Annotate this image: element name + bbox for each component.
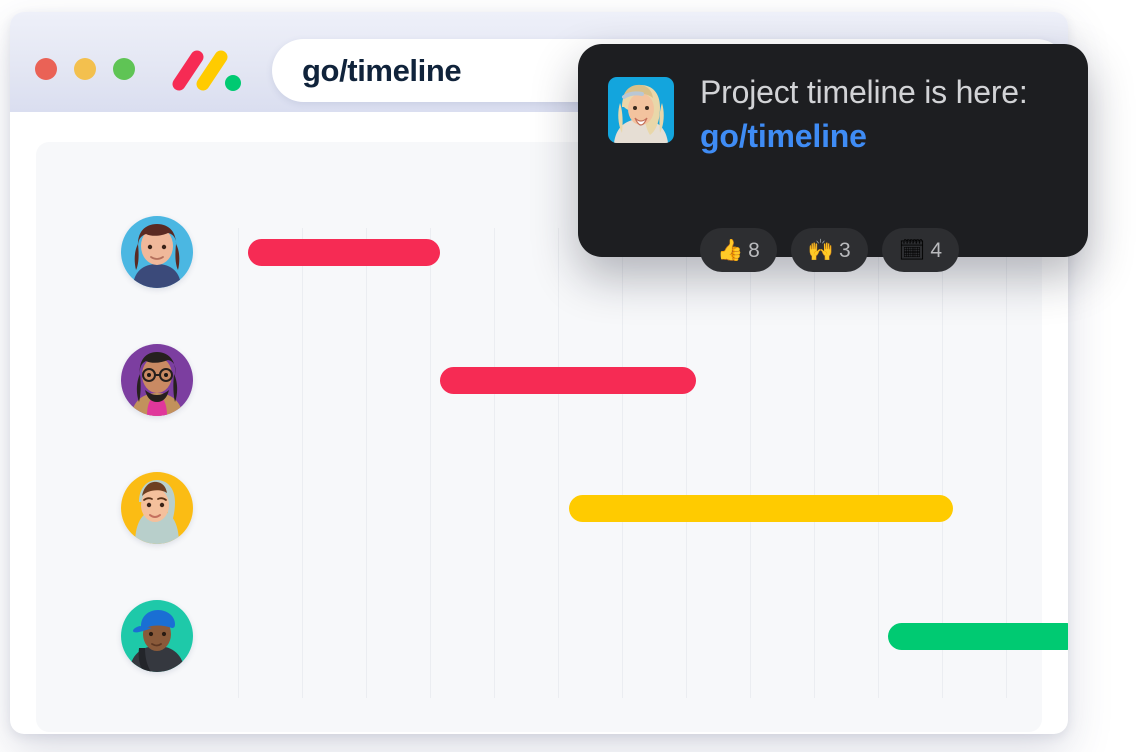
notification-link[interactable]: go/timeline xyxy=(700,118,867,154)
avatar-row-2[interactable] xyxy=(121,344,193,416)
reaction-calendar[interactable]: 🗓 4 xyxy=(882,228,959,272)
reaction-bar: 👍 8 🙌 3 🗓 4 xyxy=(700,228,959,272)
url-input[interactable]: go/timeline xyxy=(302,53,461,89)
calendar-icon: 🗓 xyxy=(899,240,926,261)
notification-toast[interactable]: Project timeline is here: go/timeline 👍 … xyxy=(578,44,1088,257)
close-button[interactable] xyxy=(35,58,57,80)
gantt-row xyxy=(36,586,1042,714)
notification-body: Project timeline is here: go/timeline xyxy=(700,70,1062,158)
avatar-row-1[interactable] xyxy=(121,216,193,288)
raised-hands-icon: 🙌 xyxy=(808,240,834,261)
gantt-row xyxy=(36,458,1042,586)
window-controls xyxy=(35,58,135,80)
reaction-count: 3 xyxy=(839,240,851,261)
gantt-bar-row-2[interactable] xyxy=(440,367,696,394)
notification-sender-avatar xyxy=(608,77,674,143)
notification-message: Project timeline is here: go/timeline xyxy=(700,70,1062,158)
avatar-row-4[interactable] xyxy=(121,600,193,672)
gantt-bar-row-4[interactable] xyxy=(888,623,1068,650)
thumbs-up-icon: 👍 xyxy=(717,240,743,261)
gantt-row xyxy=(36,330,1042,458)
reaction-count: 4 xyxy=(930,240,942,261)
avatar-row-3[interactable] xyxy=(121,472,193,544)
gantt-bar-row-1[interactable] xyxy=(248,239,440,266)
gantt-bar-row-3[interactable] xyxy=(569,495,953,522)
notification-message-text: Project timeline is here: xyxy=(700,74,1028,110)
reaction-thumbs-up[interactable]: 👍 8 xyxy=(700,228,777,272)
reaction-count: 8 xyxy=(748,240,760,261)
reaction-raised-hands[interactable]: 🙌 3 xyxy=(791,228,868,272)
maximize-button[interactable] xyxy=(113,58,135,80)
monday-logo-icon xyxy=(170,48,242,92)
minimize-button[interactable] xyxy=(74,58,96,80)
